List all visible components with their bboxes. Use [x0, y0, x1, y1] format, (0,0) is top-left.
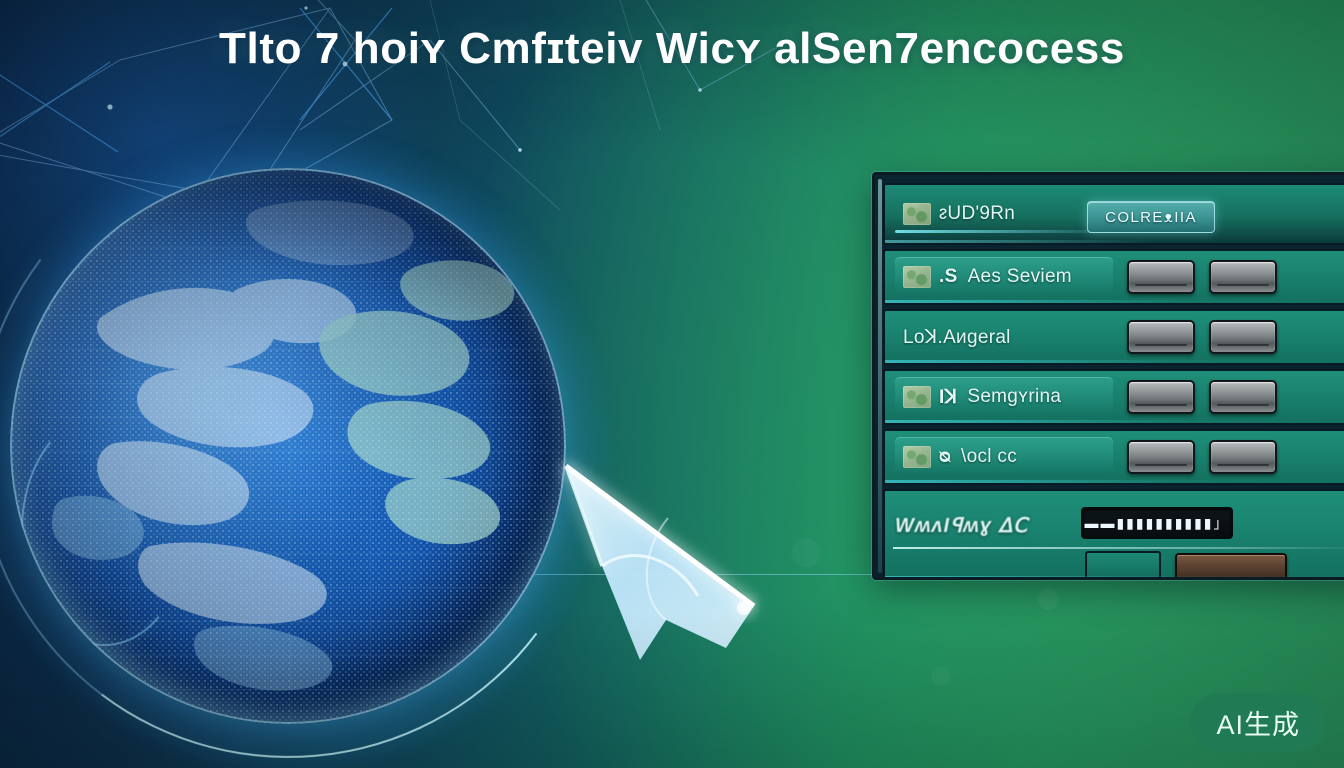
list-item-label: Loꓘ.Aᴎgeral	[903, 326, 1011, 349]
ai-generated-badge: AI生成	[1190, 693, 1326, 752]
search-input[interactable]: ▬▬▮▮▮▮▮▮▮▮▮▮」	[1081, 507, 1233, 539]
list-item-button-2[interactable]	[1209, 440, 1277, 474]
panel-footer-divider	[893, 547, 1344, 549]
list-item[interactable]: Loꓘ.Aᴎgeral	[883, 309, 1344, 365]
list-item-label-group: Loꓘ.Aᴎgeral	[895, 317, 1113, 357]
list-item-glyph: .S	[939, 266, 958, 288]
panel-left-edge	[878, 179, 882, 573]
control-panel: ᴤUD'9Rn COLREᴥIIA .S Aes Seviem Loꓘ.Aᴎge…	[872, 172, 1344, 580]
list-item-button-2[interactable]	[1209, 260, 1277, 294]
list-item-button-1[interactable]	[1127, 440, 1195, 474]
list-item[interactable]: .S Aes Seviem	[883, 249, 1344, 305]
list-item-label-group: ᴓ \ocl cc	[895, 437, 1113, 477]
panel-footer-label: WʍᴧIꟼʍɣ ᐃꓚ	[895, 513, 1028, 538]
panel-footer-copper-button[interactable]	[1175, 553, 1287, 580]
panel-header-underline	[895, 230, 1091, 233]
list-item-label-group: Iꓘ Semgʏrina	[895, 377, 1113, 417]
list-item-label: \ocl cc	[961, 446, 1017, 468]
thumbnail-icon	[903, 446, 931, 468]
list-item-actions	[1113, 380, 1344, 414]
list-item-actions	[1113, 260, 1344, 294]
panel-footer-row: WʍᴧIꟼʍɣ ᐃꓚ ▬▬▮▮▮▮▮▮▮▮▮▮」	[883, 489, 1344, 580]
panel-header-label: ᴤUD'9Rn	[939, 203, 1015, 225]
scene-root: Tlto 7 hoiʏ Cmfɪteiv Wicʏ alSen7encocess…	[0, 0, 1344, 768]
list-item-button-2[interactable]	[1209, 380, 1277, 414]
list-item-button-2[interactable]	[1209, 320, 1277, 354]
list-item-label-group: .S Aes Seviem	[895, 257, 1113, 297]
list-item-actions	[1113, 320, 1344, 354]
list-item-button-1[interactable]	[1127, 320, 1195, 354]
list-item-button-1[interactable]	[1127, 260, 1195, 294]
thumbnail-icon	[903, 203, 931, 225]
list-item[interactable]: ᴓ \ocl cc	[883, 429, 1344, 485]
list-item-glyph: ᴓ	[939, 446, 951, 468]
panel-header-label-group: ᴤUD'9Rn	[895, 194, 1113, 234]
list-item-actions	[1113, 440, 1344, 474]
panel-header-button[interactable]: COLREᴥIIA	[1087, 201, 1215, 233]
list-item[interactable]: Iꓘ Semgʏrina	[883, 369, 1344, 425]
page-title: Tlto 7 hoiʏ Cmfɪteiv Wicʏ alSen7encocess	[0, 24, 1344, 74]
list-item-label: Aes Seviem	[968, 266, 1072, 288]
thumbnail-icon	[903, 266, 931, 288]
list-item-label: Semgʏrina	[967, 386, 1061, 408]
thumbnail-icon	[903, 386, 931, 408]
panel-header-row: ᴤUD'9Rn COLREᴥIIA	[883, 183, 1344, 245]
panel-footer-notch-button[interactable]	[1085, 551, 1161, 580]
list-item-glyph: Iꓘ	[939, 386, 957, 409]
list-item-button-1[interactable]	[1127, 380, 1195, 414]
